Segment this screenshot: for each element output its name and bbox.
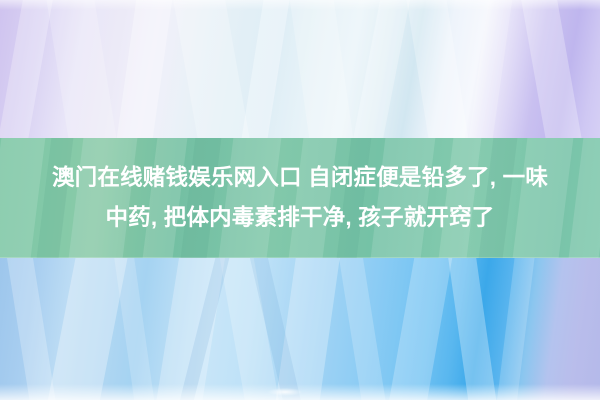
bottom-artifact (268, 388, 302, 396)
background-bottom-gradient (0, 255, 600, 400)
headline-line-1: 澳门在线赌钱娱乐网入口 自闭症便是铅多了, 一味 (52, 158, 548, 198)
banner-image: 澳门在线赌钱娱乐网入口 自闭症便是铅多了, 一味 中药, 把体内毒素排干净, 孩… (0, 0, 600, 400)
background-facets-top (0, 0, 600, 145)
headline-line-2: 中药, 把体内毒素排干净, 孩子就开窍了 (105, 198, 494, 238)
background-facets-bottom (0, 255, 600, 400)
headline: 澳门在线赌钱娱乐网入口 自闭症便是铅多了, 一味 中药, 把体内毒素排干净, 孩… (0, 138, 600, 258)
